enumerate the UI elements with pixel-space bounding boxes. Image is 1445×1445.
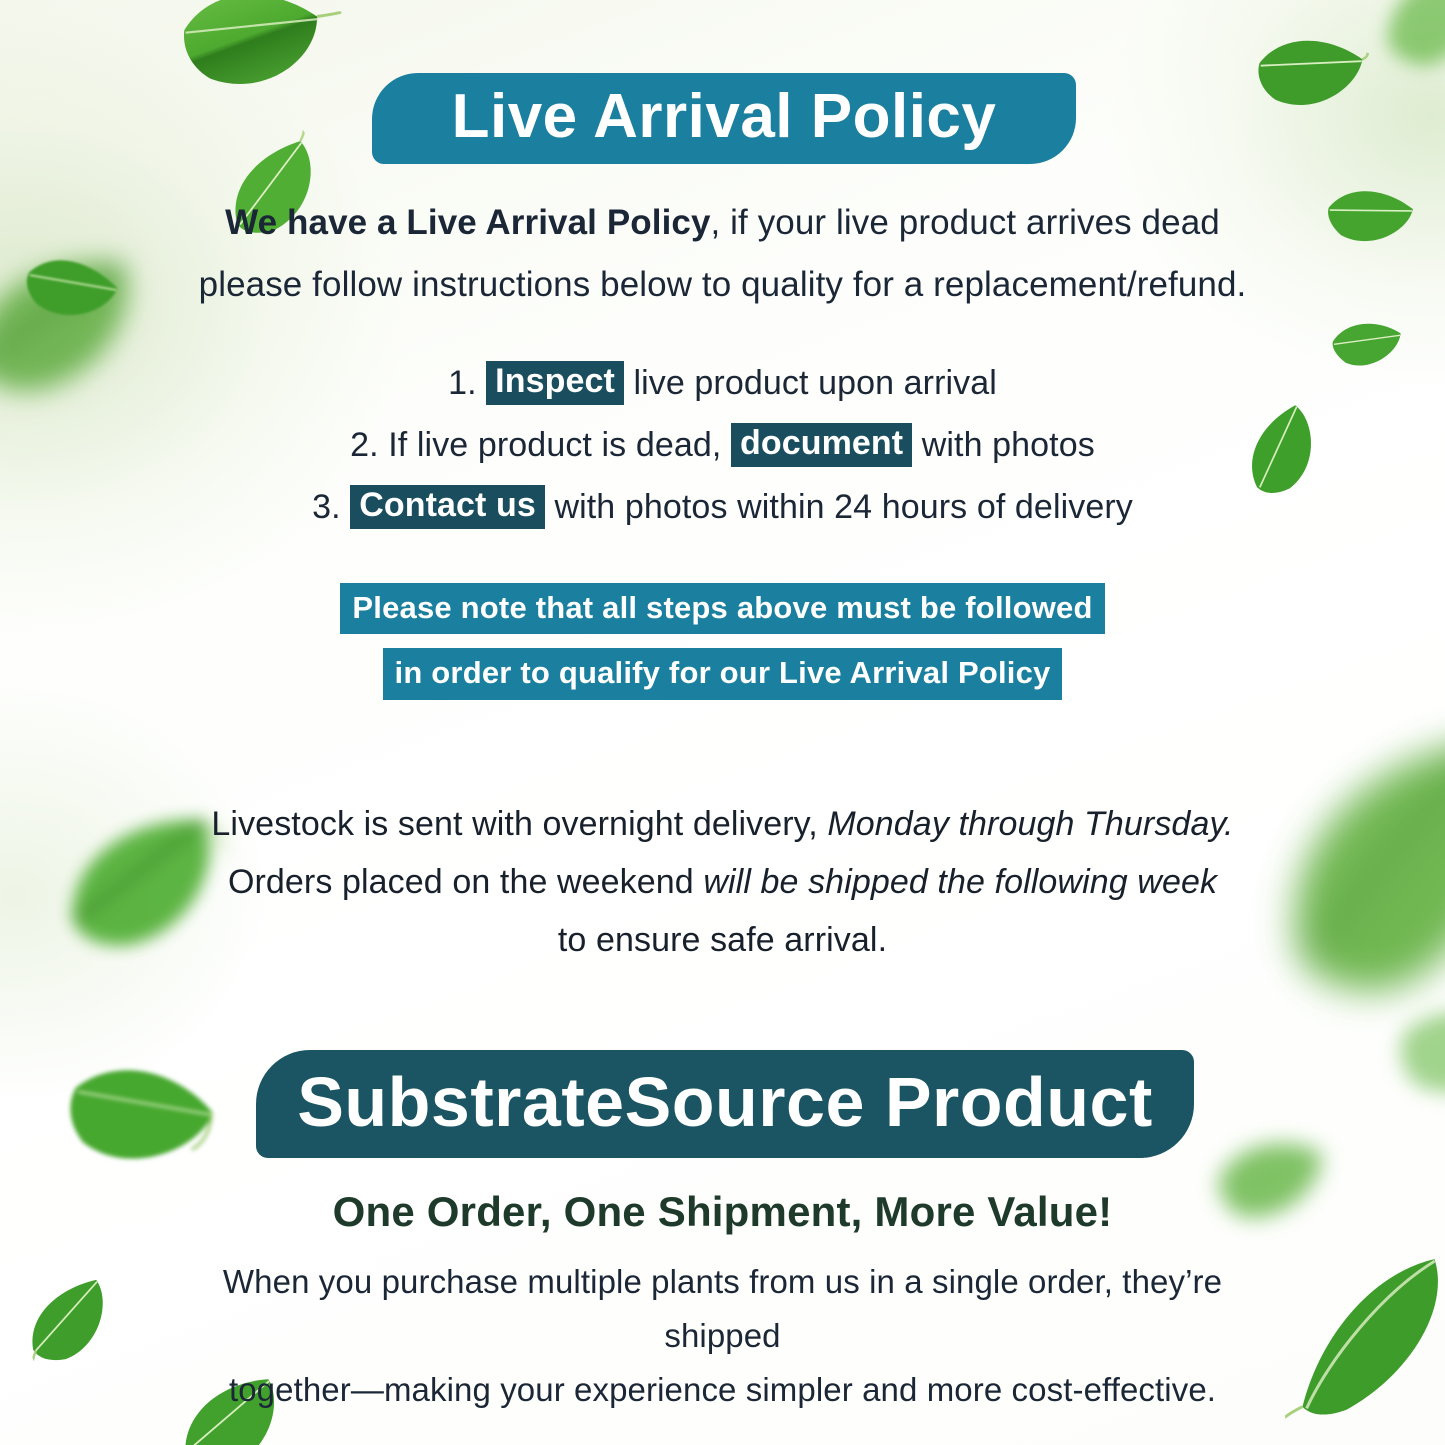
poster-content: Live Arrival Policy We have a Live Arriv…	[0, 0, 1445, 1445]
please-note-row-1: Please note that all steps above must be…	[170, 583, 1275, 634]
please-note-callout: Please note that all steps above must be…	[170, 583, 1275, 714]
shipping-line-2-italic: will be shipped the following week	[703, 863, 1217, 901]
step-text-before: If live product is dead,	[388, 426, 721, 464]
step-text-after: with photos	[922, 426, 1095, 464]
list-item: 2. If live product is dead, document wit…	[170, 414, 1275, 476]
poster-canvas: Live Arrival Policy We have a Live Arriv…	[0, 0, 1445, 1445]
product-body-paragraph: When you purchase multiple plants from u…	[170, 1255, 1275, 1417]
product-body-line-1: When you purchase multiple plants from u…	[223, 1263, 1222, 1354]
step-highlight-inspect: Inspect	[486, 361, 624, 405]
banner-substratesource-product-label: SubstrateSource Product	[297, 1067, 1153, 1137]
intro-bold-lead: We have a Live Arrival Policy	[225, 203, 710, 242]
step-text-after: live product upon arrival	[633, 364, 996, 402]
step-number: 2.	[350, 414, 379, 476]
step-number: 3.	[312, 476, 341, 538]
shipping-line-1-plain: Livestock is sent with overnight deliver…	[211, 805, 817, 843]
shipping-paragraph: Livestock is sent with overnight deliver…	[180, 795, 1265, 969]
please-note-line-2: in order to qualify for our Live Arrival…	[383, 648, 1063, 699]
step-highlight-contact-us: Contact us	[350, 485, 545, 529]
shipping-line-3: to ensure safe arrival.	[558, 921, 887, 959]
product-body-line-2: together—making your experience simpler …	[229, 1371, 1216, 1408]
intro-paragraph: We have a Live Arrival Policy, if your l…	[170, 192, 1275, 316]
list-item: 3. Contact us with photos within 24 hour…	[170, 476, 1275, 538]
banner-live-arrival-policy: Live Arrival Policy	[372, 73, 1076, 164]
step-highlight-document: document	[731, 423, 912, 467]
steps-list: 1. Inspect live product upon arrival 2. …	[170, 352, 1275, 538]
please-note-row-2: in order to qualify for our Live Arrival…	[170, 648, 1275, 699]
banner-substratesource-product: SubstrateSource Product	[256, 1050, 1194, 1158]
shipping-line-1-italic: Monday through Thursday.	[827, 805, 1233, 843]
banner-live-arrival-policy-label: Live Arrival Policy	[452, 86, 997, 148]
list-item: 1. Inspect live product upon arrival	[170, 352, 1275, 414]
step-number: 1.	[448, 352, 477, 414]
step-text-after: with photos within 24 hours of delivery	[554, 488, 1132, 526]
product-subheading: One Order, One Shipment, More Value!	[170, 1188, 1275, 1236]
shipping-line-2-plain: Orders placed on the weekend	[228, 863, 694, 901]
please-note-line-1: Please note that all steps above must be…	[340, 583, 1104, 634]
